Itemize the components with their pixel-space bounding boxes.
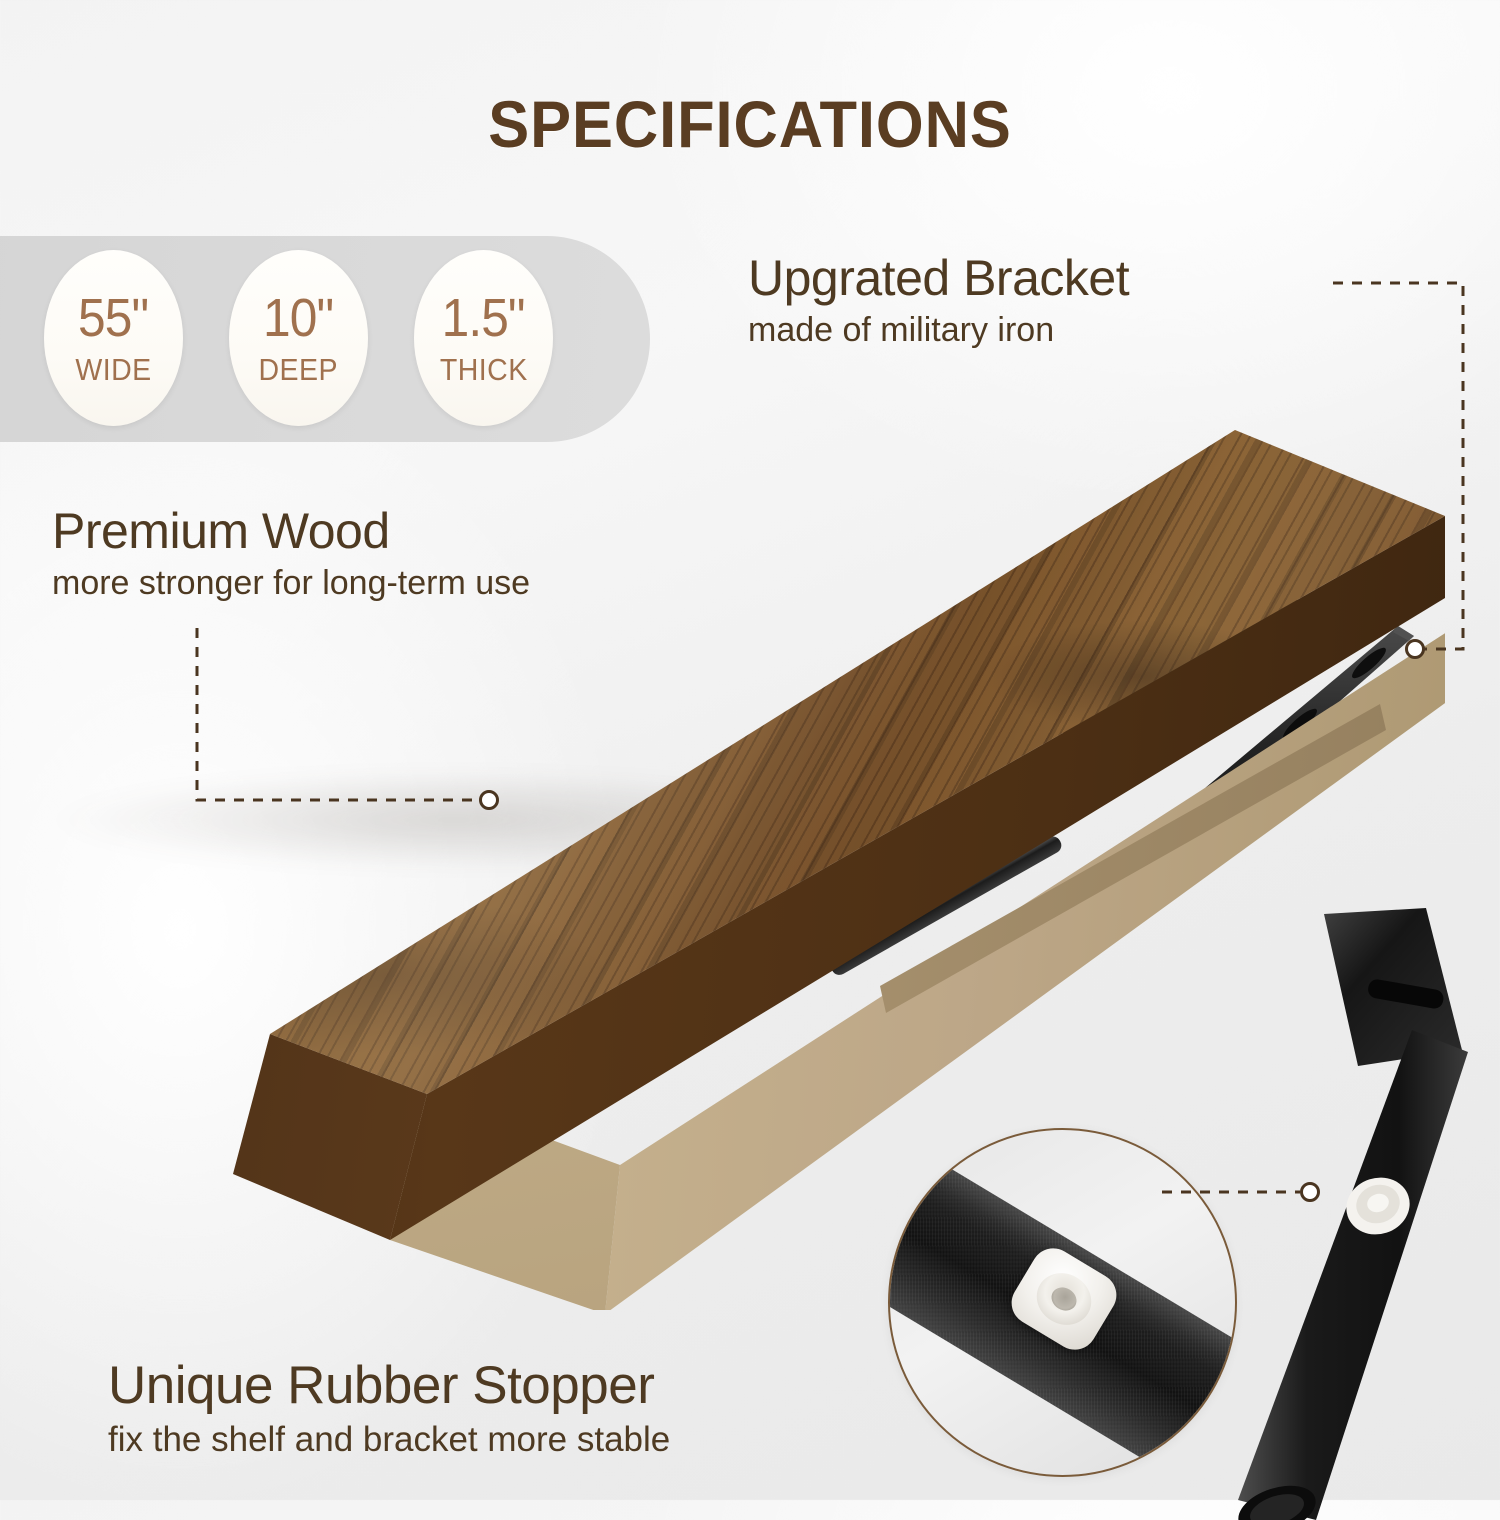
callout-stopper-subtitle: fix the shelf and bracket more stable	[108, 1420, 670, 1459]
callout-wood-subtitle: more stronger for long-term use	[52, 564, 530, 602]
leader-line-bracket	[1333, 283, 1463, 649]
callout-rubber-stopper: Unique Rubber Stopper fix the shelf and …	[108, 1358, 670, 1459]
callout-upgraded-bracket: Upgrated Bracket made of military iron	[748, 252, 1129, 349]
callout-bracket-title: Upgrated Bracket	[748, 252, 1129, 305]
leader-endpoint-bracket	[1407, 641, 1424, 658]
leader-endpoint-wood	[481, 792, 498, 809]
callout-wood-title: Premium Wood	[52, 505, 530, 558]
callout-leader-lines	[0, 0, 1500, 1500]
leader-line-wood	[197, 628, 482, 800]
product-infographic: SPECIFICATIONS 55" WIDE 10" DEEP 1.5" TH…	[0, 0, 1500, 1500]
callout-premium-wood: Premium Wood more stronger for long-term…	[52, 505, 530, 602]
callout-stopper-title: Unique Rubber Stopper	[108, 1358, 670, 1414]
callout-bracket-subtitle: made of military iron	[748, 311, 1129, 349]
leader-endpoint-stopper	[1302, 1184, 1319, 1201]
